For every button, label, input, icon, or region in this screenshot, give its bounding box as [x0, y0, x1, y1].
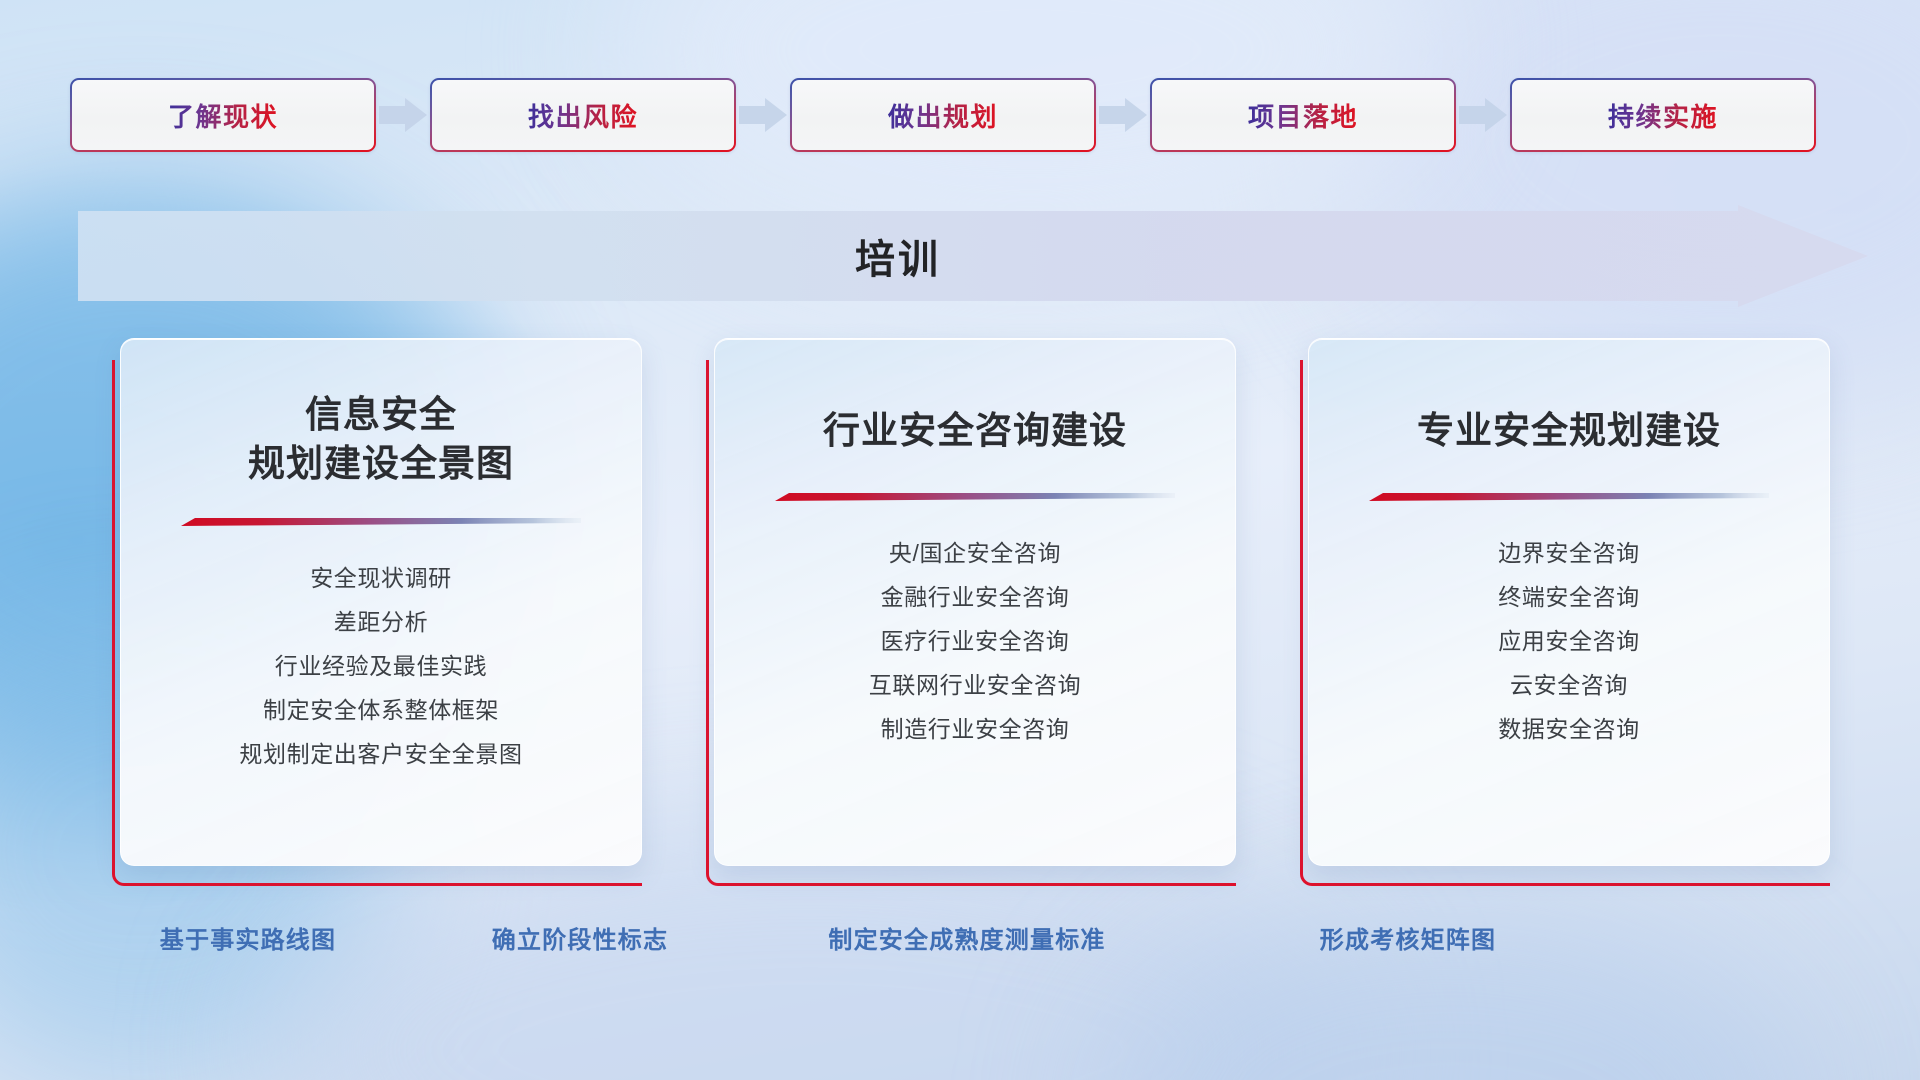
card-1-item-5: 规划制定出客户安全全景图	[121, 733, 641, 777]
process-step-3-label: 做出规划	[888, 97, 998, 134]
process-arrow-2	[737, 95, 789, 135]
process-step-1[interactable]: 了解现状	[70, 78, 376, 152]
process-arrow-4	[1457, 95, 1509, 135]
process-step-4[interactable]: 项目落地	[1150, 78, 1456, 152]
card-1-item-1: 安全现状调研	[121, 557, 641, 601]
card-1-item-3: 行业经验及最佳实践	[121, 645, 641, 689]
process-step-5[interactable]: 持续实施	[1510, 78, 1816, 152]
process-step-2-body: 找出风险	[432, 80, 734, 150]
card-2-item-1: 央/国企安全咨询	[715, 532, 1235, 576]
service-card-3[interactable]: 专业安全规划建设	[1300, 338, 1830, 886]
process-step-1-label: 了解现状	[168, 97, 278, 134]
training-banner: 培训	[78, 205, 1868, 307]
process-step-2[interactable]: 找出风险	[430, 78, 736, 152]
card-3-item-1: 边界安全咨询	[1309, 532, 1829, 576]
service-card-row: 信息安全 规划建设全景图	[112, 338, 1832, 886]
card-1-item-2: 差距分析	[121, 601, 641, 645]
card-1-body: 信息安全 规划建设全景图	[120, 338, 642, 866]
process-step-4-label: 项目落地	[1248, 97, 1358, 134]
process-step-4-body: 项目落地	[1152, 80, 1454, 150]
process-arrow-1	[377, 95, 429, 135]
card-3-item-4: 云安全咨询	[1309, 664, 1829, 708]
card-2-item-4: 互联网行业安全咨询	[715, 664, 1235, 708]
tapered-gradient-rule-icon	[1369, 490, 1769, 506]
card-2-title: 行业安全咨询建设	[823, 407, 1127, 456]
card-2-item-2: 金融行业安全咨询	[715, 576, 1235, 620]
process-step-5-body: 持续实施	[1512, 80, 1814, 150]
footer-caption-4: 形成考核矩阵图	[1320, 920, 1496, 955]
service-card-1[interactable]: 信息安全 规划建设全景图	[112, 338, 642, 886]
process-step-2-label: 找出风险	[528, 97, 638, 134]
card-1-title: 信息安全 规划建设全景图	[248, 391, 514, 489]
card-2-item-3: 医疗行业安全咨询	[715, 620, 1235, 664]
card-1-item-list: 安全现状调研 差距分析 行业经验及最佳实践 制定安全体系整体框架 规划制定出客户…	[121, 557, 641, 777]
card-3-item-5: 数据安全咨询	[1309, 708, 1829, 752]
footer-caption-1: 基于事实路线图	[160, 920, 336, 955]
training-banner-label: 培训	[78, 205, 1718, 307]
footer-caption-row: 基于事实路线图 确立阶段性标志 制定安全成熟度测量标准 形成考核矩阵图	[0, 920, 1920, 968]
card-3-title: 专业安全规划建设	[1417, 407, 1721, 456]
card-1-item-4: 制定安全体系整体框架	[121, 689, 641, 733]
tapered-gradient-rule-icon	[775, 490, 1175, 506]
card-2-body: 行业安全咨询建设	[714, 338, 1236, 866]
footer-caption-2: 确立阶段性标志	[492, 920, 668, 955]
process-step-strip: 了解现状 找出风险 做出规划	[70, 78, 1860, 152]
card-2-item-list: 央/国企安全咨询 金融行业安全咨询 医疗行业安全咨询 互联网行业安全咨询 制造行…	[715, 532, 1235, 752]
service-card-2[interactable]: 行业安全咨询建设	[706, 338, 1236, 886]
card-3-item-list: 边界安全咨询 终端安全咨询 应用安全咨询 云安全咨询 数据安全咨询	[1309, 532, 1829, 752]
process-step-1-body: 了解现状	[72, 80, 374, 150]
card-3-item-2: 终端安全咨询	[1309, 576, 1829, 620]
process-step-3-body: 做出规划	[792, 80, 1094, 150]
footer-caption-3: 制定安全成熟度测量标准	[828, 920, 1105, 955]
process-arrow-3	[1097, 95, 1149, 135]
process-step-5-label: 持续实施	[1608, 97, 1718, 134]
card-2-item-5: 制造行业安全咨询	[715, 708, 1235, 752]
process-step-3[interactable]: 做出规划	[790, 78, 1096, 152]
tapered-gradient-rule-icon	[181, 515, 581, 531]
card-3-item-3: 应用安全咨询	[1309, 620, 1829, 664]
card-3-body: 专业安全规划建设	[1308, 338, 1830, 866]
slide-canvas: 了解现状 找出风险 做出规划	[0, 0, 1920, 1080]
